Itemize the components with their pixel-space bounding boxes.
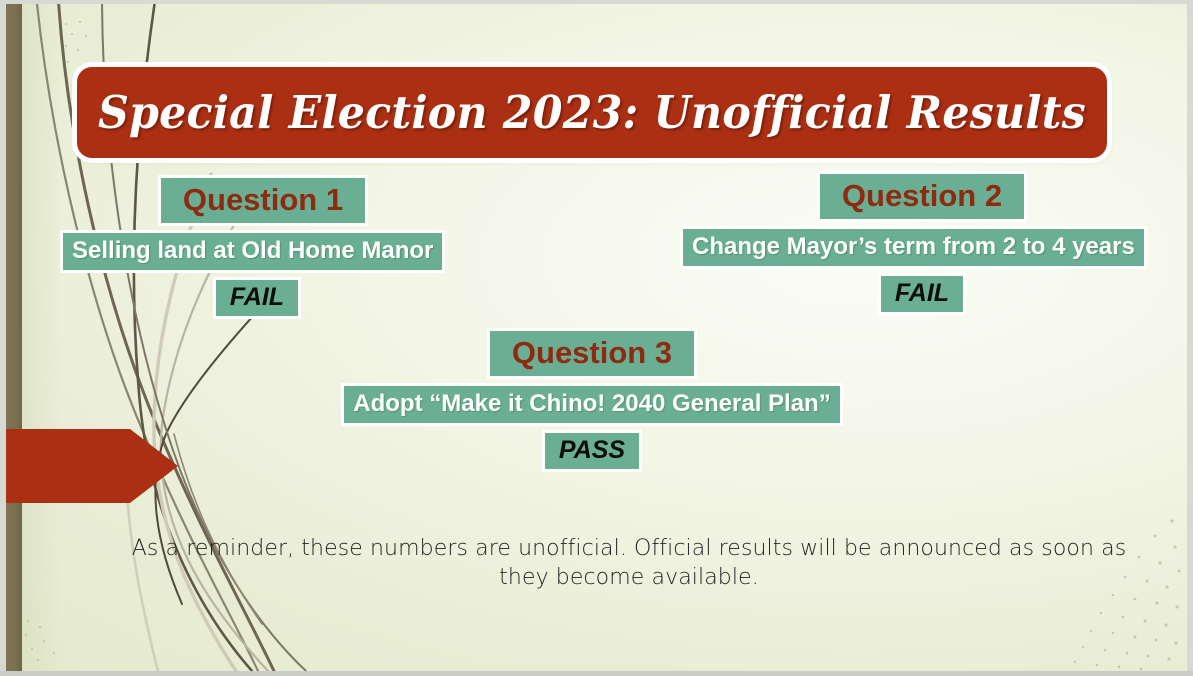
- question-1-description: Selling land at Old Home Manor: [63, 233, 442, 270]
- red-arrow-shape-icon: [6, 429, 178, 503]
- question-3-description: Adopt “Make it Chino! 2040 General Plan”: [344, 386, 839, 423]
- question-2-heading-row: Question 2: [683, 174, 1167, 219]
- question-3-heading: Question 3: [490, 331, 694, 376]
- question-1-result-row: FAIL: [52, 280, 462, 316]
- slide-canvas: Special Election 2023: Unofficial Result…: [6, 4, 1187, 671]
- question-1-heading: Question 1: [161, 178, 365, 223]
- question-block-2: Question 2 Change Mayor’s term from 2 to…: [683, 174, 1167, 312]
- question-1-heading-row: Question 1: [52, 178, 462, 223]
- question-block-1: Question 1 Selling land at Old Home Mano…: [52, 178, 462, 316]
- slide-bottom-edge: [0, 671, 1193, 676]
- question-2-description: Change Mayor’s term from 2 to 4 years: [683, 229, 1144, 266]
- left-panel-tint: [22, 4, 62, 671]
- question-2-description-row: Change Mayor’s term from 2 to 4 years: [683, 229, 1167, 266]
- question-3-heading-row: Question 3: [333, 331, 851, 376]
- question-block-3: Question 3 Adopt “Make it Chino! 2040 Ge…: [333, 331, 851, 469]
- question-1-result-badge: FAIL: [216, 280, 298, 316]
- question-1-description-row: Selling land at Old Home Manor: [52, 233, 462, 270]
- question-2-result-badge: FAIL: [881, 276, 963, 312]
- question-3-result-badge: PASS: [545, 433, 639, 469]
- slide-title-banner: Special Election 2023: Unofficial Result…: [77, 67, 1107, 158]
- question-3-result-row: PASS: [333, 433, 851, 469]
- olive-accent-bar: [6, 4, 22, 671]
- question-2-heading: Question 2: [820, 174, 1024, 219]
- footer-disclaimer-text: As a reminder, these numbers are unoffic…: [114, 535, 1144, 592]
- presentation-slide: Special Election 2023: Unofficial Result…: [0, 0, 1193, 676]
- question-3-description-row: Adopt “Make it Chino! 2040 General Plan”: [333, 386, 851, 423]
- question-2-result-row: FAIL: [683, 276, 1167, 312]
- page-title: Special Election 2023: Unofficial Result…: [98, 86, 1086, 139]
